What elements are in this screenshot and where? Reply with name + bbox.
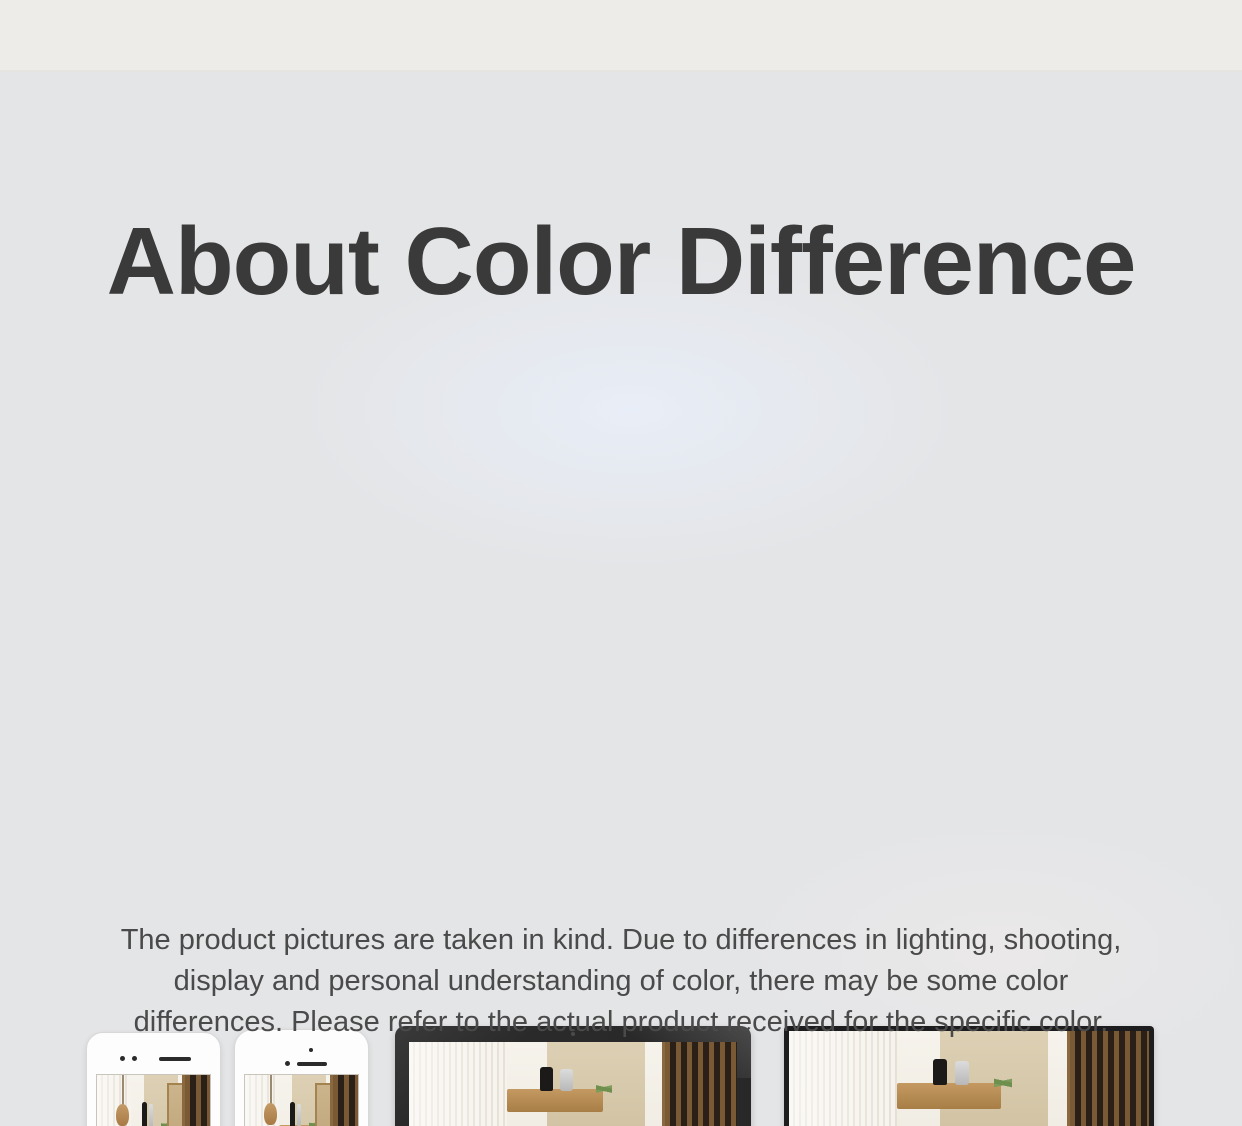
- caption-line-2: display and personal understanding of co…: [41, 961, 1201, 1002]
- device-phone-right: [234, 1029, 369, 1126]
- earpiece-speaker-icon: [159, 1057, 191, 1061]
- room-scene: [409, 1042, 737, 1126]
- scene-vase: [290, 1102, 295, 1126]
- black-monitor-screen: [789, 1031, 1149, 1126]
- scene-pendant-lamp: [116, 1075, 128, 1126]
- room-scene: [245, 1075, 358, 1126]
- scene-figurine: [955, 1061, 969, 1085]
- room-scene: [789, 1031, 1149, 1126]
- front-camera-icon: [285, 1061, 290, 1066]
- scene-plant: [309, 1098, 315, 1126]
- top-banner-strip: [0, 0, 1242, 72]
- device-phone-left: [86, 1032, 221, 1126]
- earpiece-speaker-icon: [297, 1062, 327, 1066]
- scene-wood-slats: [1067, 1031, 1149, 1126]
- scene-vase: [933, 1059, 947, 1085]
- scene-figurine: [149, 1104, 154, 1126]
- scene-blinds: [789, 1031, 897, 1126]
- caption-line-1: The product pictures are taken in kind. …: [41, 920, 1201, 961]
- scene-wood-slats: [662, 1042, 737, 1126]
- scene-lamp-shade: [116, 1104, 128, 1126]
- scene-pendant-lamp: [264, 1075, 276, 1125]
- scene-credenza: [507, 1089, 602, 1112]
- disclaimer-caption: The product pictures are taken in kind. …: [41, 920, 1201, 1044]
- scene-plant: [161, 1099, 167, 1126]
- page-title: About Color Difference: [0, 212, 1242, 313]
- scene-wood-slats: [330, 1075, 358, 1126]
- phone-left-screen: [96, 1074, 211, 1126]
- scene-plant: [994, 1055, 1012, 1111]
- room-scene: [97, 1075, 210, 1126]
- proximity-sensor-icon: [309, 1048, 313, 1052]
- devices-row: [0, 505, 1242, 835]
- scene-plant: [596, 1064, 612, 1114]
- apple-display-screen: [409, 1042, 737, 1126]
- scene-figurine: [560, 1069, 573, 1091]
- scene-figurine: [297, 1104, 302, 1126]
- scene-lamp-cord: [122, 1075, 124, 1105]
- scene-lamp-cord: [270, 1075, 272, 1104]
- scene-wood-slats: [182, 1075, 210, 1126]
- scene-blinds: [409, 1042, 507, 1126]
- page-root: About Color Difference: [0, 0, 1242, 1126]
- scene-lamp-shade: [264, 1103, 276, 1125]
- phone-right-screen: [244, 1074, 359, 1126]
- scene-credenza: [897, 1083, 1001, 1109]
- scene-vase: [540, 1067, 553, 1090]
- proximity-sensor-icon: [132, 1056, 137, 1061]
- scene-vase: [142, 1102, 147, 1126]
- caption-line-3: differences. Please refer to the actual …: [41, 1002, 1201, 1043]
- front-camera-icon: [120, 1056, 125, 1061]
